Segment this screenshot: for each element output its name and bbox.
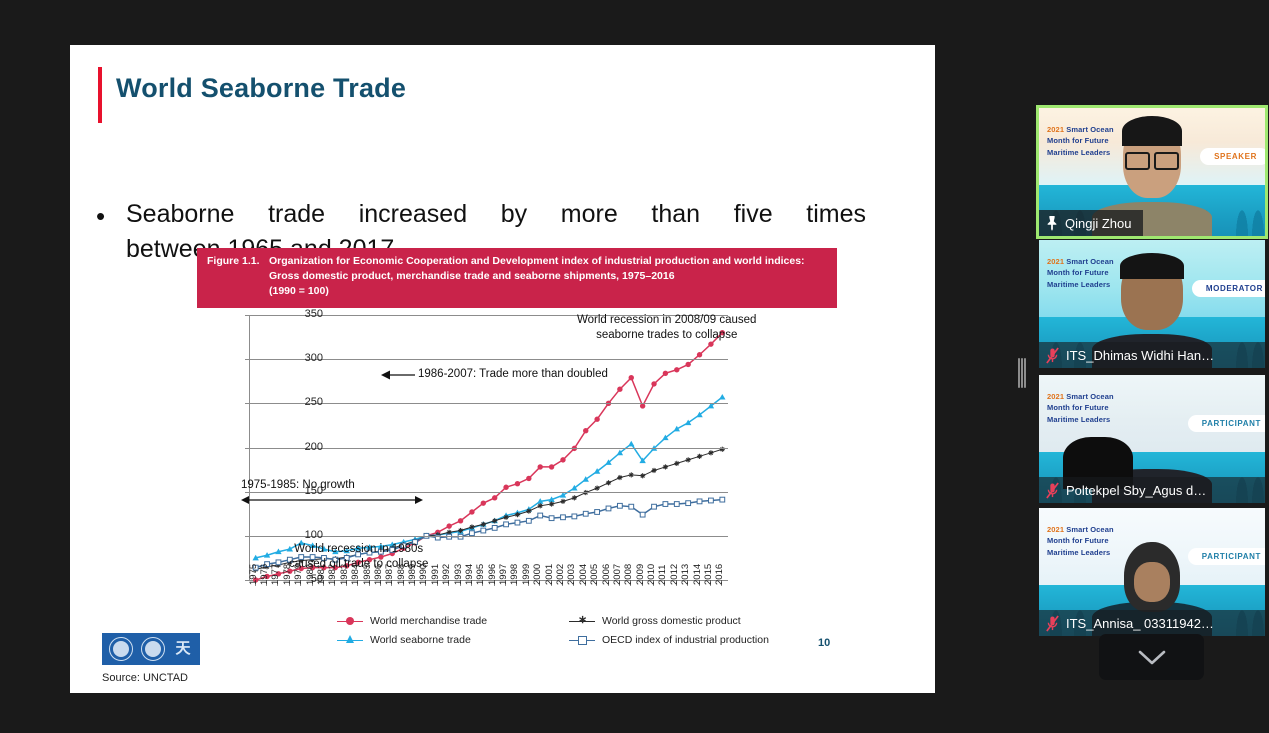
participant-name: Qingji Zhou [1065, 216, 1131, 231]
event-branding-line-2: Month for Future [1047, 535, 1114, 546]
annotation-no-growth: 1975-1985: No growth [241, 478, 423, 506]
line-chart: 50100150200250300350 1975197619771978197… [197, 310, 857, 678]
figure-caption-line-3: (1990 = 100) [269, 284, 827, 299]
y-axis-tick [245, 359, 250, 360]
chart-data-point [708, 450, 713, 455]
chart-data-point [572, 514, 577, 519]
x-axis-tick-label: 1992 [441, 564, 452, 585]
x-axis-tick-label: 1976 [259, 564, 270, 585]
chart-data-point [651, 468, 656, 473]
y-axis-tick-label: 300 [283, 352, 323, 364]
x-axis-tick-label: 2008 [623, 564, 634, 585]
chart-data-point [606, 480, 611, 485]
chart-data-point [492, 495, 497, 500]
annotation-recession-1980s: World recession in 1980s caused oil trad… [289, 542, 428, 572]
event-branding-line-2: Month for Future [1047, 135, 1114, 146]
chart-data-point [561, 515, 566, 520]
chart-data-point [469, 509, 474, 514]
chart-data-point [709, 498, 714, 503]
legend-item: ∗World gross domestic product [569, 615, 801, 627]
chart-legend: World merchandise trade∗World gross dome… [337, 615, 767, 646]
chart-data-point [652, 504, 657, 509]
y-axis-tick [245, 536, 250, 537]
x-axis-tick-label: 1996 [487, 564, 498, 585]
participant-name-bar: Poltekpel Sby_Agus d… [1039, 477, 1265, 503]
chart-data-point [651, 381, 656, 386]
chart-data-point [697, 352, 702, 357]
chart-data-point [560, 492, 566, 498]
x-axis-tick-label: 1998 [509, 564, 520, 585]
legend-marker-icon [337, 615, 363, 627]
microphone-muted-icon [1045, 615, 1060, 632]
x-axis-tick-label: 2006 [601, 564, 612, 585]
participant-video-panel[interactable]: 2021 Smart OceanMonth for FutureMaritime… [1035, 105, 1269, 685]
chart-data-point [481, 528, 486, 533]
participant-video-feed: 2021 Smart OceanMonth for FutureMaritime… [1039, 375, 1265, 503]
chart-data-point [629, 375, 634, 380]
title-accent-bar [98, 67, 102, 123]
microphone-muted-icon [1045, 347, 1060, 364]
chart-data-point [719, 394, 725, 400]
chart-data-point [538, 464, 543, 469]
event-year: 2021 [1047, 257, 1064, 266]
maritime-seal-icon [141, 637, 165, 661]
event-branding-line-1: 2021 Smart Ocean [1047, 524, 1114, 535]
role-badge: PARTICIPANT [1188, 415, 1265, 432]
x-axis-tick-label: 1994 [464, 564, 475, 585]
event-branding-line-1: 2021 Smart Ocean [1047, 256, 1114, 267]
y-axis-tick [245, 403, 250, 404]
legend-label: OECD index of industrial production [602, 634, 769, 646]
resize-grip-line [1018, 358, 1020, 388]
double-arrow-icon [241, 494, 423, 506]
chart-data-point [515, 481, 520, 486]
chart-data-point [458, 528, 463, 533]
x-axis-tick-label: 2012 [669, 564, 680, 585]
participant-name-bar: Qingji Zhou [1039, 210, 1143, 236]
x-axis-tick-label: 1993 [453, 564, 464, 585]
event-branding-text: 2021 Smart OceanMonth for FutureMaritime… [1047, 391, 1114, 425]
x-axis-tick-label: 1997 [498, 564, 509, 585]
chart-data-point [560, 457, 565, 462]
event-branding-line-1: 2021 Smart Ocean [1047, 391, 1114, 402]
chart-data-point [583, 428, 588, 433]
university-seal-icon [109, 637, 133, 661]
chart-data-point [504, 522, 509, 527]
resize-grip-line [1024, 358, 1026, 388]
x-axis-tick-label: 1975 [248, 564, 259, 585]
y-axis-tick-label: 350 [283, 308, 323, 320]
chart-data-point [606, 506, 611, 511]
legend-marker-icon [337, 634, 363, 646]
chart-data-point [583, 511, 588, 516]
role-badge: SPEAKER [1200, 148, 1265, 165]
y-axis-tick [245, 315, 250, 316]
microphone-muted-icon [1045, 482, 1060, 499]
legend-item: World seaborne trade [337, 634, 569, 646]
x-axis-tick-label: 2010 [646, 564, 657, 585]
x-axis-tick-label: 1999 [521, 564, 532, 585]
chart-data-point [481, 500, 486, 505]
legend-label: World seaborne trade [370, 634, 471, 646]
bullet-line-1: Seaborne trade increased by more than fi… [126, 197, 866, 232]
x-axis-tick-label: 2009 [635, 564, 646, 585]
participant-tile[interactable]: 2021 Smart OceanMonth for FutureMaritime… [1039, 508, 1265, 636]
legend-marker-icon: ∗ [569, 615, 595, 627]
chart-data-point [446, 523, 451, 528]
participant-hair [1120, 253, 1184, 279]
role-badge: MODERATOR [1192, 280, 1265, 297]
scroll-down-button[interactable] [1099, 634, 1204, 680]
event-branding-line-3: Maritime Leaders [1047, 414, 1114, 425]
chart-data-point [674, 502, 679, 507]
chart-data-point [674, 367, 679, 372]
pin-icon [1045, 215, 1059, 231]
chart-data-point [526, 509, 531, 514]
event-branding-line-2: Month for Future [1047, 402, 1114, 413]
x-axis-tick-label: 2001 [544, 564, 555, 585]
chart-data-point [503, 485, 508, 490]
figure-caption-line-2: Gross domestic product, merchandise trad… [269, 269, 827, 284]
y-axis-tick-label: 200 [283, 441, 323, 453]
annotation-trade-doubled: 1986-2007: Trade more than doubled [381, 367, 608, 382]
x-axis-tick-label: 2000 [532, 564, 543, 585]
participant-hair [1122, 116, 1182, 146]
chart-data-point [685, 362, 690, 367]
chart-data-point [686, 501, 691, 506]
seaweed-decoration [1235, 206, 1249, 236]
chart-data-point [458, 518, 463, 523]
chart-data-point [663, 464, 668, 469]
x-axis-tick-label: 2016 [714, 564, 725, 585]
participant-name-bar: ITS_Annisa_ 03311942… [1039, 610, 1265, 636]
page-title: World Seaborne Trade [116, 73, 406, 104]
legend-label: World gross domestic product [602, 615, 741, 627]
panel-resize-handle[interactable] [1018, 358, 1026, 388]
legend-label: World merchandise trade [370, 615, 487, 627]
chart-data-point [515, 520, 520, 525]
participant-name-bar: ITS_Dhimas Widhi Han… [1039, 342, 1265, 368]
y-axis-tick [245, 448, 250, 449]
x-axis-tick-label: 2005 [589, 564, 600, 585]
chart-data-point [640, 473, 645, 478]
chart-data-point [697, 499, 702, 504]
x-axis-tick-label: 1995 [475, 564, 486, 585]
glasses-icon [1125, 152, 1179, 166]
x-axis-tick-label: 2013 [680, 564, 691, 585]
event-branding-line-3: Maritime Leaders [1047, 147, 1114, 158]
x-axis-tick-label: 2015 [703, 564, 714, 585]
role-badge: PARTICIPANT [1188, 548, 1265, 565]
participant-video-feed: 2021 Smart OceanMonth for FutureMaritime… [1039, 108, 1265, 236]
chart-data-point [549, 516, 554, 521]
annotation-recession-2008-line-1: World recession in 2008/09 caused [577, 313, 756, 328]
chart-data-point [617, 475, 622, 480]
event-branding-line-2: Month for Future [1047, 267, 1114, 278]
event-branding-line-3: Maritime Leaders [1047, 547, 1114, 558]
chart-data-point [595, 486, 600, 491]
event-branding-text: 2021 Smart OceanMonth for FutureMaritime… [1047, 256, 1114, 290]
institution-logos: 天 [102, 633, 200, 665]
event-year: 2021 [1047, 125, 1064, 134]
event-year: 2021 [1047, 525, 1064, 534]
x-axis-tick-label: 2014 [692, 564, 703, 585]
chart-data-point [572, 495, 577, 500]
annotation-recession-1980s-line-1: World recession in 1980s [289, 542, 428, 557]
left-arrow-icon [381, 369, 415, 380]
participant-video-feed: 2021 Smart OceanMonth for FutureMaritime… [1039, 240, 1265, 368]
chart-data-point [538, 513, 543, 518]
annotation-recession-2008-line-2: seaborne trades to collapse [577, 328, 756, 343]
chart-data-point [549, 501, 554, 506]
participant-face [1124, 542, 1180, 612]
chart-data-point [663, 371, 668, 376]
chart-data-point [663, 502, 668, 507]
chart-data-point [617, 387, 622, 392]
chevron-down-icon [1137, 649, 1167, 666]
chart-data-point [595, 510, 600, 515]
chart-data-point [640, 512, 645, 517]
participant-name: Poltekpel Sby_Agus d… [1066, 483, 1206, 498]
chart-data-point [617, 503, 622, 508]
chart-data-point [492, 525, 497, 530]
annotation-no-growth-text: 1975-1985: No growth [241, 478, 423, 493]
legend-item: World merchandise trade [337, 615, 569, 627]
x-axis-tick-label: 2007 [612, 564, 623, 585]
participant-name: ITS_Annisa_ 03311942… [1066, 616, 1214, 631]
third-logo-icon: 天 [173, 638, 193, 660]
figure-caption-line-1: Organization for Economic Cooperation an… [269, 254, 827, 269]
chart-data-point [538, 503, 543, 508]
figure-number: Figure 1.1. [207, 254, 269, 300]
chart-data-point [629, 472, 634, 477]
legend-item: OECD index of industrial production [569, 634, 801, 646]
legend-marker-icon [569, 634, 595, 646]
chart-data-point [674, 461, 679, 466]
participant-video-feed: 2021 Smart OceanMonth for FutureMaritime… [1039, 508, 1265, 636]
y-axis-tick-label: 100 [283, 529, 323, 541]
x-axis-tick-label: 2002 [555, 564, 566, 585]
x-axis-tick-label: 2004 [578, 564, 589, 585]
figure-container: Figure 1.1. Organization for Economic Co… [197, 248, 857, 678]
bullet-marker: • [96, 203, 105, 229]
seaweed-decoration [1251, 206, 1265, 236]
event-branding-text: 2021 Smart OceanMonth for FutureMaritime… [1047, 524, 1114, 558]
annotation-trade-doubled-text: 1986-2007: Trade more than doubled [418, 367, 608, 382]
chart-data-point [594, 417, 599, 422]
participant-tile[interactable]: 2021 Smart OceanMonth for FutureMaritime… [1036, 105, 1268, 239]
event-branding-text: 2021 Smart OceanMonth for FutureMaritime… [1047, 124, 1114, 158]
participant-tile[interactable]: 2021 Smart OceanMonth for FutureMaritime… [1039, 375, 1265, 503]
page-number: 10 [818, 637, 830, 649]
participant-name: ITS_Dhimas Widhi Han… [1066, 348, 1214, 363]
chart-data-point [560, 499, 565, 504]
participant-tile[interactable]: 2021 Smart OceanMonth for FutureMaritime… [1039, 240, 1265, 368]
x-axis-tick-label: 2003 [566, 564, 577, 585]
chart-data-point [526, 476, 531, 481]
annotation-recession-2008: World recession in 2008/09 caused seabor… [577, 313, 756, 343]
resize-grip-line [1021, 358, 1023, 388]
chart-data-point [526, 518, 531, 523]
x-axis-tick-label: 2011 [657, 565, 668, 585]
x-axis-tick-label: 1977 [270, 564, 281, 585]
chart-data-point [629, 504, 634, 509]
x-axis-tick-label: 1991 [430, 564, 441, 585]
annotation-recession-1980s-line-2: caused oil trade to collapse [289, 557, 428, 572]
chart-data-point [686, 457, 691, 462]
chart-data-point [720, 497, 725, 502]
y-axis-tick-label: 250 [283, 396, 323, 408]
event-branding-line-1: 2021 Smart Ocean [1047, 124, 1114, 135]
presentation-slide[interactable]: World Seaborne Trade • Seaborne trade in… [70, 45, 935, 693]
chart-data-point [697, 454, 702, 459]
event-year: 2021 [1047, 392, 1064, 401]
source-label: Source: UNCTAD [102, 672, 188, 684]
event-branding-line-3: Maritime Leaders [1047, 279, 1114, 290]
chart-data-point [628, 441, 634, 447]
chart-data-point [549, 464, 554, 469]
figure-caption: Figure 1.1. Organization for Economic Co… [197, 248, 837, 308]
